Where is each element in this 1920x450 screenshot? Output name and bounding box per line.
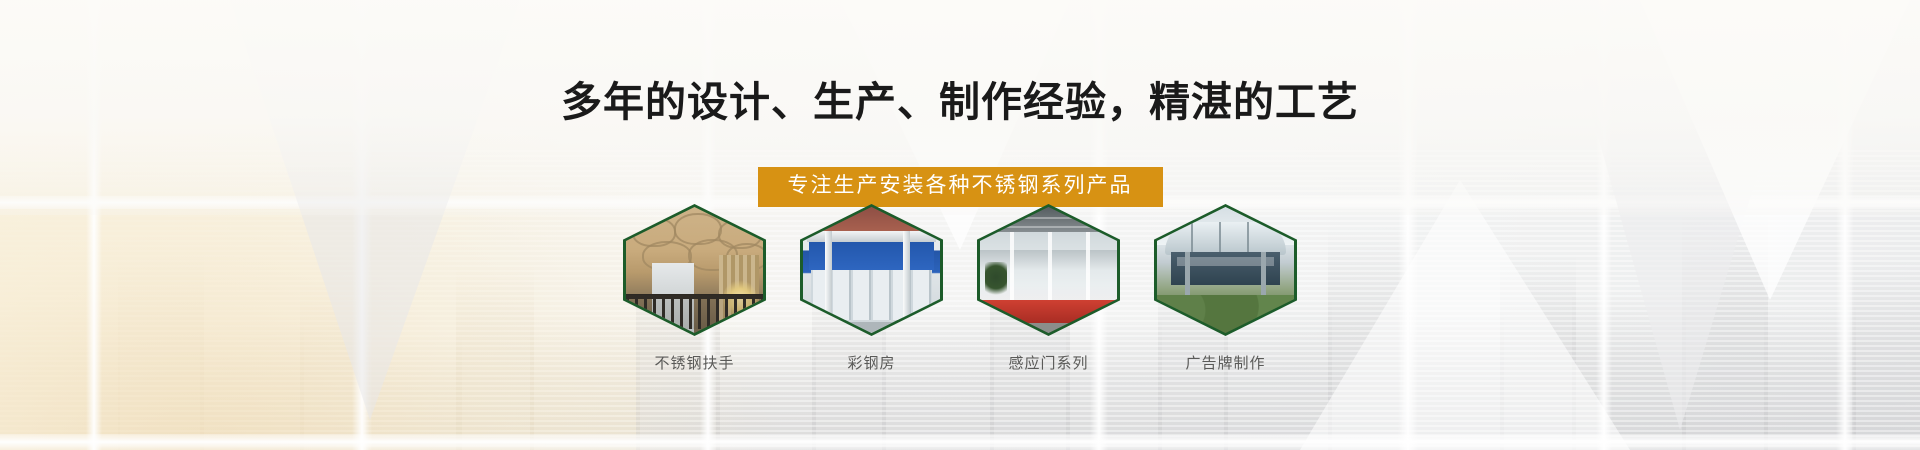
hexagon-image-clip	[803, 207, 940, 333]
hexagon-frame[interactable]	[623, 204, 766, 336]
transom	[0, 434, 1920, 450]
hexagon-frame[interactable]	[800, 204, 943, 336]
promo-banner: 多年的设计、生产、制作经验，精湛的工艺 专注生产安装各种不锈钢系列产品 不锈钢扶…	[0, 0, 1920, 450]
product-caption: 不锈钢扶手	[654, 352, 734, 373]
hexagon-image-clip	[1157, 207, 1294, 333]
product-item[interactable]: 广告牌制作	[1148, 204, 1303, 373]
product-hexagon-row: 不锈钢扶手 彩钢房	[0, 204, 1920, 373]
banner-subtitle-badge: 专注生产安装各种不锈钢系列产品	[758, 167, 1163, 207]
product-item[interactable]: 不锈钢扶手	[617, 204, 772, 373]
product-caption: 广告牌制作	[1185, 352, 1265, 373]
banner-headline: 多年的设计、生产、制作经验，精湛的工艺	[0, 78, 1920, 127]
automatic-sensor-door-photo	[980, 207, 1117, 333]
product-caption: 彩钢房	[847, 352, 895, 373]
hexagon-frame[interactable]	[1154, 204, 1297, 336]
hexagon-image-clip	[626, 207, 763, 333]
hexagon-frame[interactable]	[977, 204, 1120, 336]
badge-container: 专注生产安装各种不锈钢系列产品	[0, 167, 1920, 207]
stainless-steel-handrail-photo	[626, 207, 763, 333]
product-caption: 感应门系列	[1008, 352, 1088, 373]
color-steel-cabin-photo	[803, 207, 940, 333]
hexagon-image-clip	[980, 207, 1117, 333]
signboard-fabrication-photo	[1157, 207, 1294, 333]
product-item[interactable]: 彩钢房	[794, 204, 949, 373]
product-item[interactable]: 感应门系列	[971, 204, 1126, 373]
